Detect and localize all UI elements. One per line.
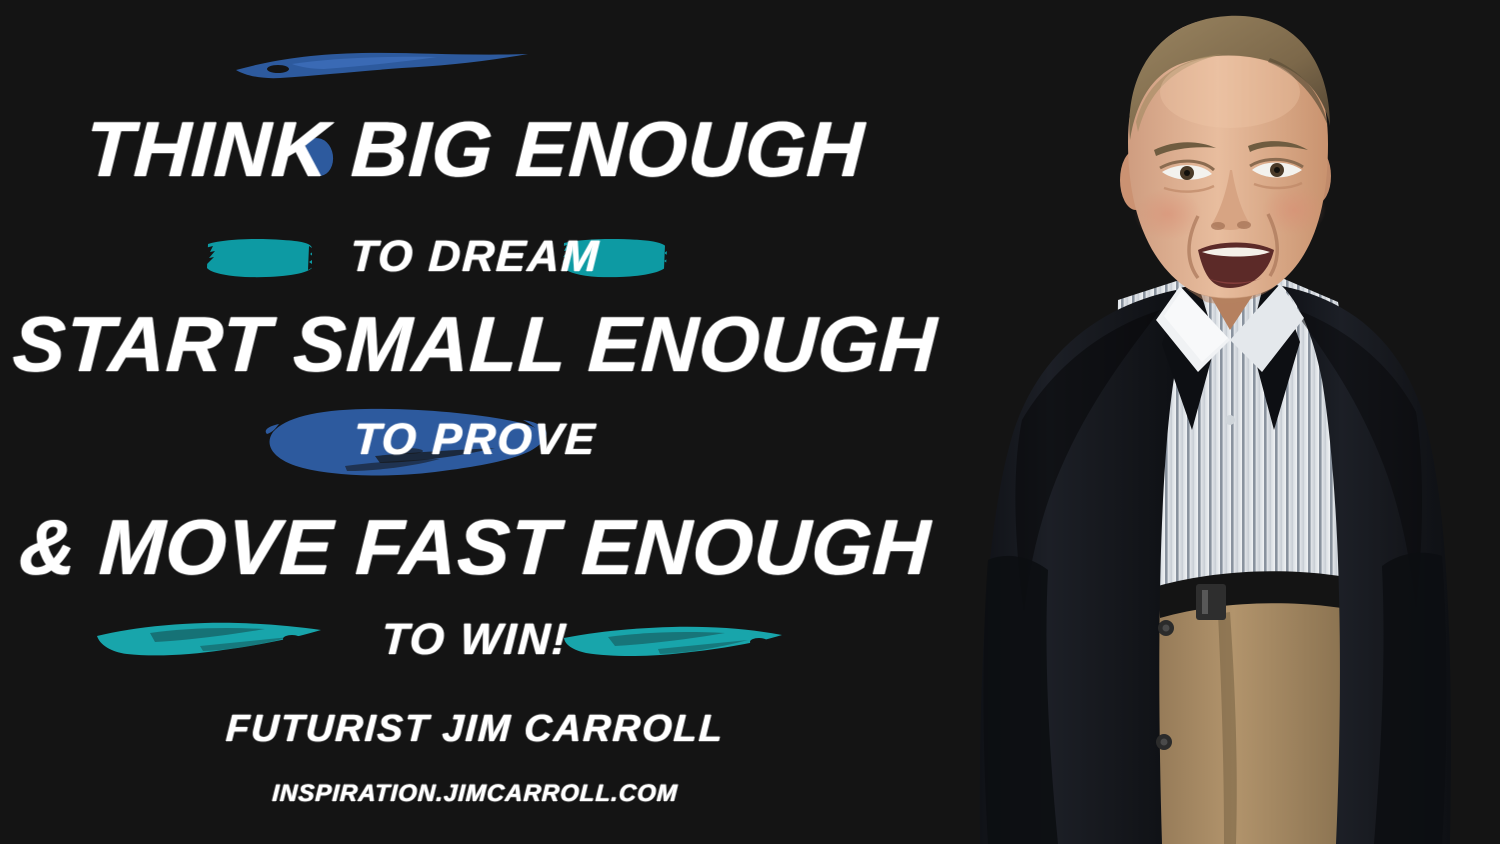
quote-line-to-win: TO WIN! xyxy=(0,618,951,662)
quote-graphic: THINK BIG ENOUGH TO DREAM START SMALL EN… xyxy=(0,0,1500,844)
belt-buckle xyxy=(1196,584,1226,620)
quote-line-think-big-enough: THINK BIG ENOUGH xyxy=(0,110,952,188)
quote-line-to-dream: TO DREAM xyxy=(0,235,951,279)
quote-line-move-fast-enough: & MOVE FAST ENOUGH xyxy=(0,508,952,586)
right-arm xyxy=(1374,553,1447,844)
quote-block: THINK BIG ENOUGH TO DREAM START SMALL EN… xyxy=(0,0,950,844)
left-arm xyxy=(984,556,1059,844)
website-url[interactable]: INSPIRATION.JIMCARROLL.COM xyxy=(0,780,951,808)
shirt-button xyxy=(1225,415,1235,425)
quote-line-start-small-enough: START SMALL ENOUGH xyxy=(0,305,952,383)
quote-line-to-prove: TO PROVE xyxy=(0,418,951,462)
author-attribution: FUTURIST JIM CARROLL xyxy=(0,708,951,751)
portrait-jim-carroll xyxy=(930,0,1500,844)
